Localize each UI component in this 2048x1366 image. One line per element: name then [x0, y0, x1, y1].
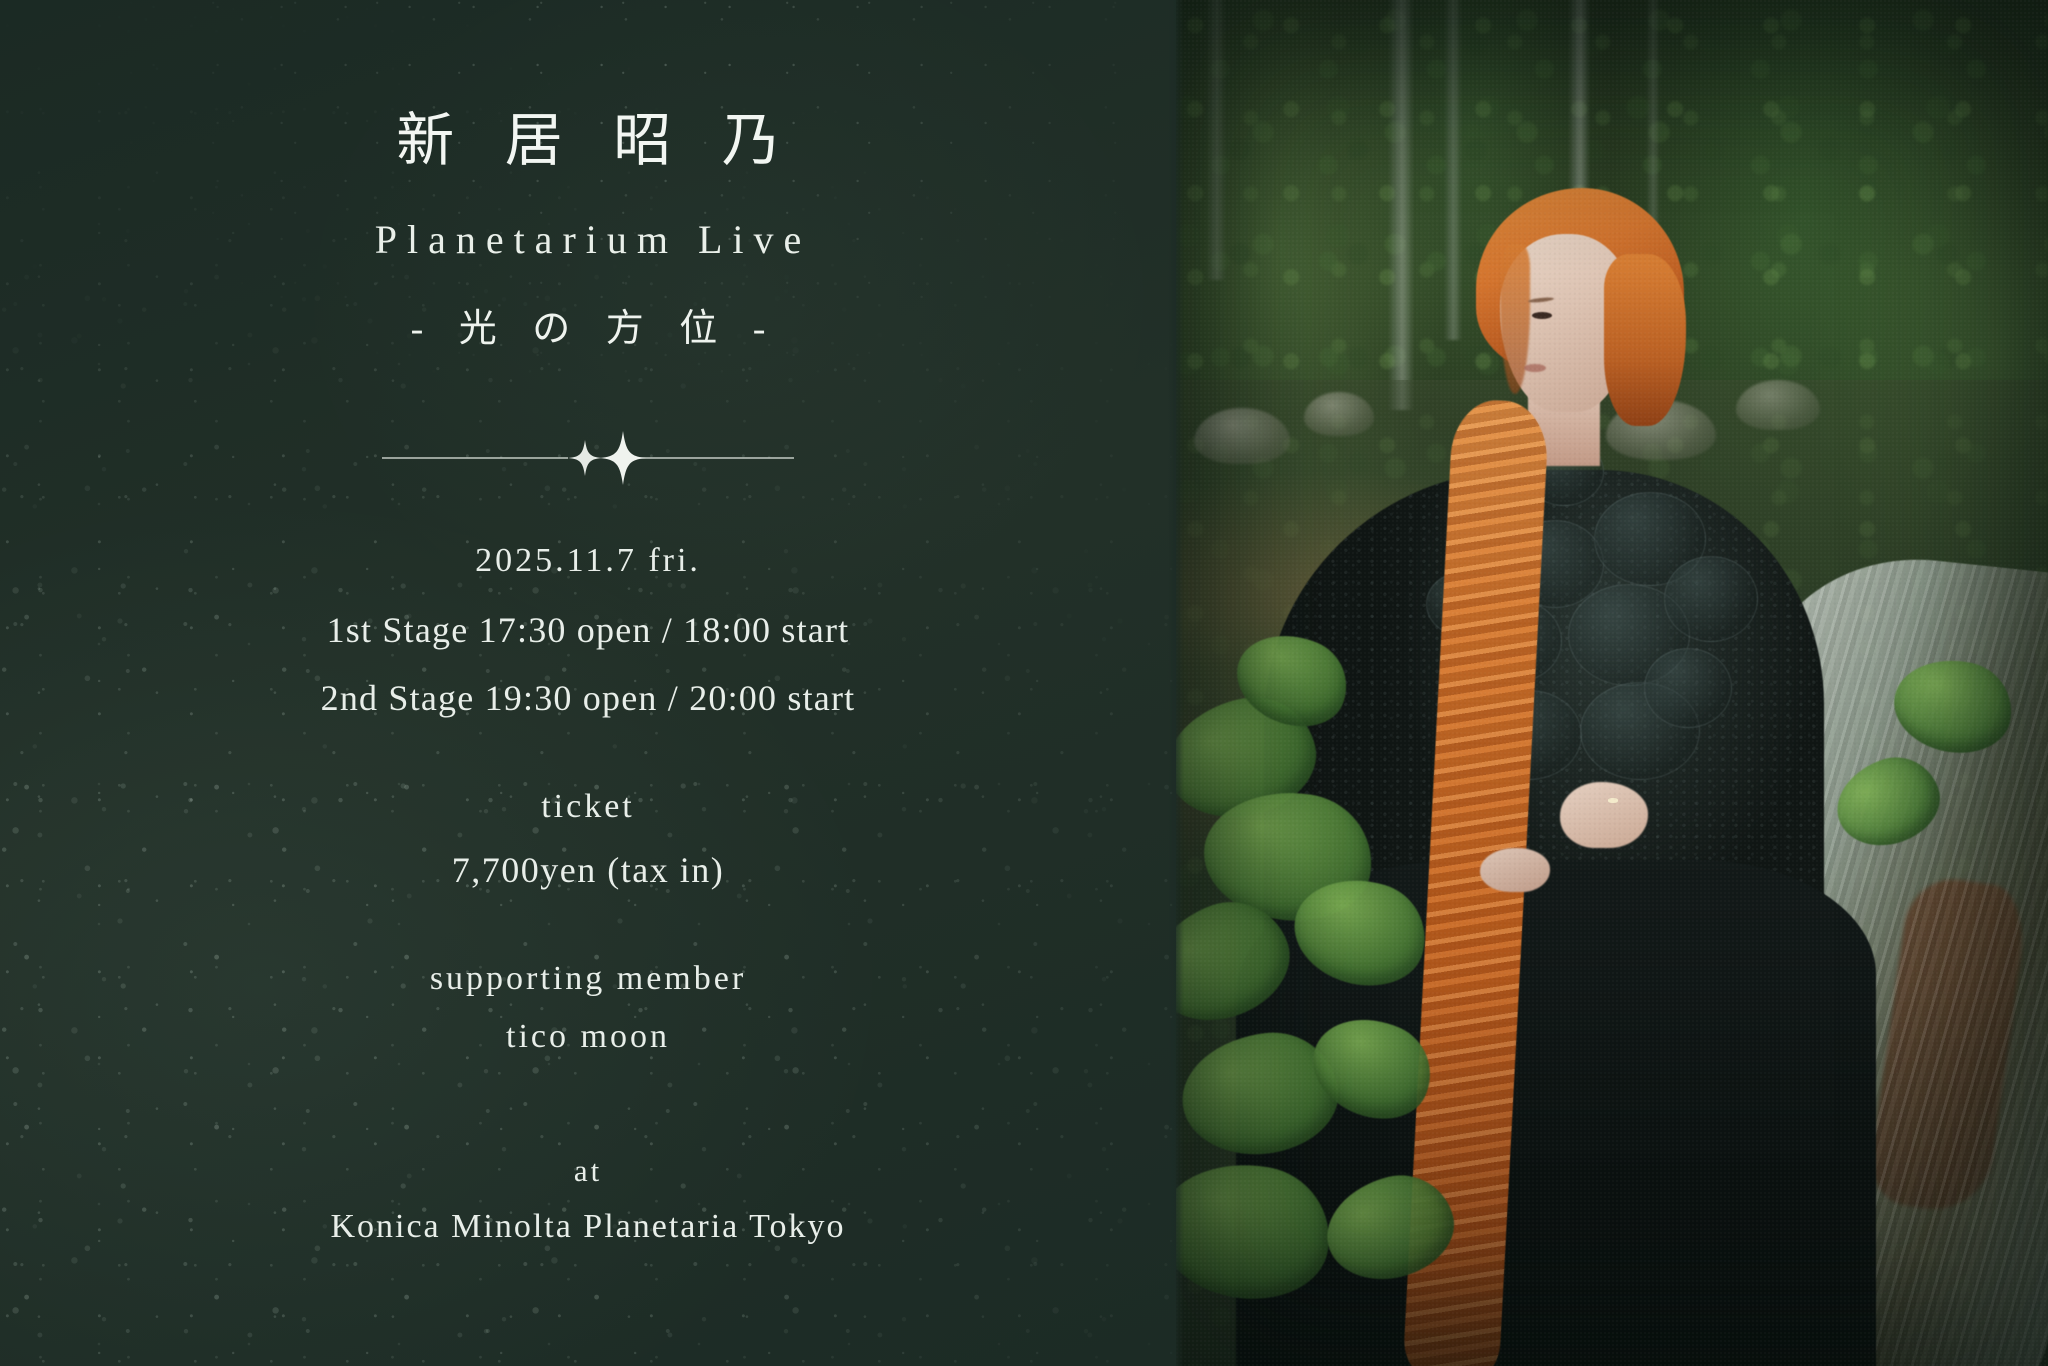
poster-root: 新 居 昭 乃 Planetarium Live - 光 の 方 位 - 202…	[0, 0, 2048, 1366]
schedule-block: 2025.11.7 fri. 1st Stage 17:30 open / 18…	[0, 544, 1176, 748]
stage-1-times: 1st Stage 17:30 open / 18:00 start	[0, 612, 1176, 648]
supporting-member-block: supporting member tico moon	[0, 962, 1176, 1054]
ticket-price: 7,700yen (tax in)	[0, 852, 1176, 888]
ticket-label: ticket	[0, 790, 1176, 824]
supporting-member-label: supporting member	[0, 962, 1176, 996]
supporting-member-name: tico moon	[0, 1020, 1176, 1054]
event-subtitle-english: Planetarium Live	[0, 220, 1176, 260]
sparkle-divider	[0, 428, 1176, 488]
poster-text-content: 新 居 昭 乃 Planetarium Live - 光 の 方 位 - 202…	[0, 0, 1176, 1366]
venue-name: Konica Minolta Planetaria Tokyo	[0, 1210, 1176, 1244]
venue-block: at Konica Minolta Planetaria Tokyo	[0, 1155, 1176, 1244]
venue-preposition: at	[0, 1155, 1176, 1186]
artist-name: 新 居 昭 乃	[0, 112, 1176, 170]
left-text-panel: 新 居 昭 乃 Planetarium Live - 光 の 方 位 - 202…	[0, 0, 1176, 1366]
photo-grain	[1176, 0, 2048, 1366]
stage-2-times: 2nd Stage 19:30 open / 20:00 start	[0, 680, 1176, 716]
event-subtitle-japanese: - 光 の 方 位 -	[0, 310, 1176, 348]
ticket-block: ticket 7,700yen (tax in)	[0, 790, 1176, 888]
sparkle-divider-icon	[378, 428, 798, 488]
artist-photo	[1176, 0, 2048, 1366]
event-date: 2025.11.7 fri.	[0, 544, 1176, 578]
